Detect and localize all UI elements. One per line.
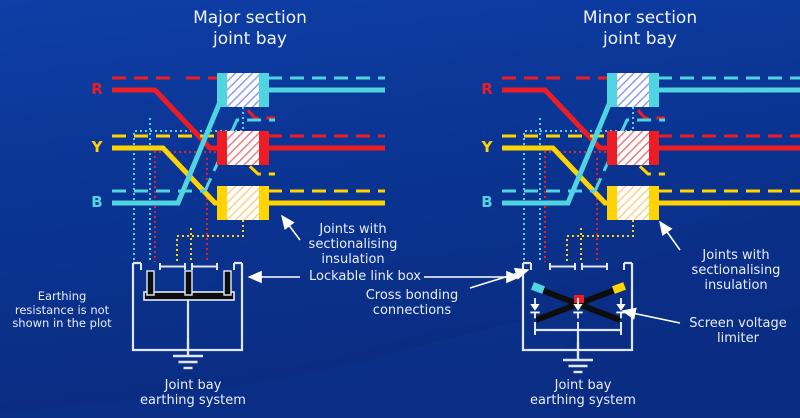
joint-box-r-left[interactable] xyxy=(217,131,269,165)
diagram-svg xyxy=(0,0,800,418)
annotation-earthing-note: Earthing resistance is not shown in the … xyxy=(2,290,122,331)
phase-label-b-right: B xyxy=(478,195,496,210)
phase-label-y-right: Y xyxy=(478,140,496,155)
annotation-screen-voltage-limiter: Screen voltage limiter xyxy=(678,316,798,346)
phase-label-r-left: R xyxy=(88,82,106,97)
title-minor-section: Minor section joint bay xyxy=(510,8,770,50)
annotation-link-box: Lockable link box xyxy=(305,269,425,284)
diagram-canvas: Major section joint bay Minor section jo… xyxy=(0,0,800,418)
annotation-earthing-system-right: Joint bay earthing system xyxy=(508,378,658,408)
phase-label-b-left: B xyxy=(88,195,106,210)
annotation-earthing-system-left: Joint bay earthing system xyxy=(118,378,268,408)
annotation-joints-right: Joints with sectionalising insulation xyxy=(672,248,800,293)
phase-label-r-right: R xyxy=(478,82,496,97)
phase-label-y-left: Y xyxy=(88,140,106,155)
title-major-section: Major section joint bay xyxy=(120,8,380,50)
joint-box-r-right[interactable] xyxy=(607,131,659,165)
annotation-cross-bonding: Cross bonding connections xyxy=(352,288,472,318)
joint-box-y-left[interactable] xyxy=(217,186,269,220)
annotation-joints-left: Joints with sectionalising insulation xyxy=(288,222,418,267)
joint-box-y-right[interactable] xyxy=(607,186,659,220)
joint-box-b-right[interactable] xyxy=(607,73,659,107)
joint-box-b-left[interactable] xyxy=(217,73,269,107)
